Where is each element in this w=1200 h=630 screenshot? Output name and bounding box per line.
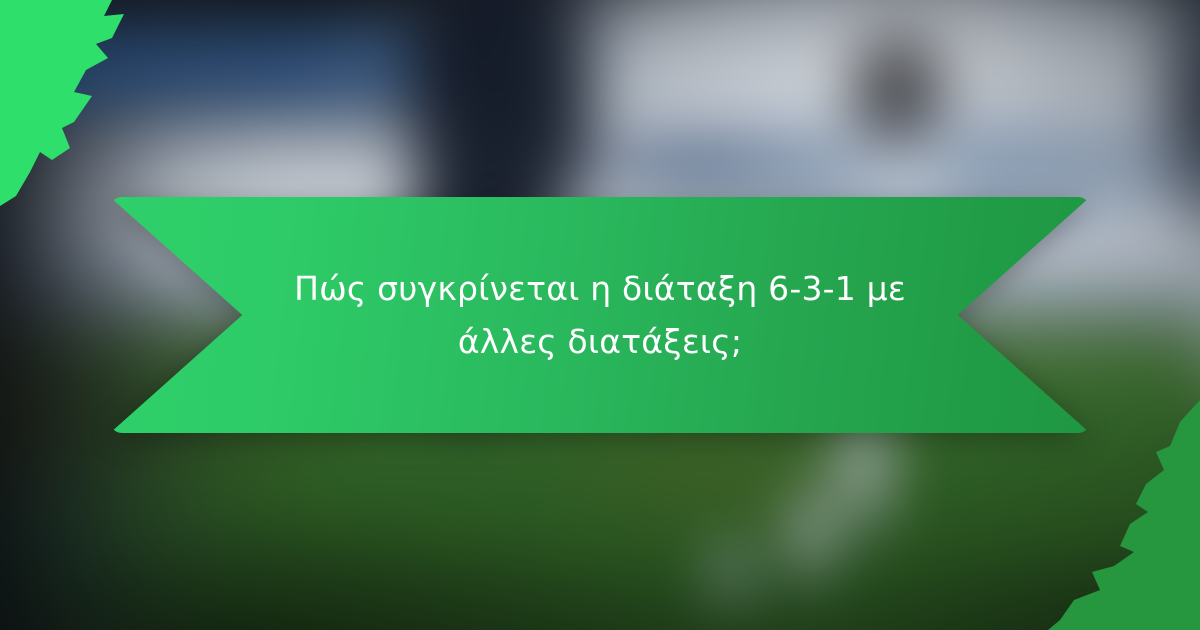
page-title: Πώς συγκρίνεται η διάταξη 6-3-1 με άλλες… <box>280 262 920 369</box>
ribbon-banner: Πώς συγκρίνεται η διάταξη 6-3-1 με άλλες… <box>110 197 1090 433</box>
ribbon-banner-content: Πώς συγκρίνεται η διάταξη 6-3-1 με άλλες… <box>110 197 1090 433</box>
share-card: Πώς συγκρίνεται η διάταξη 6-3-1 με άλλες… <box>0 0 1200 630</box>
torn-edge-shape-bottom-right-icon <box>1030 400 1200 630</box>
